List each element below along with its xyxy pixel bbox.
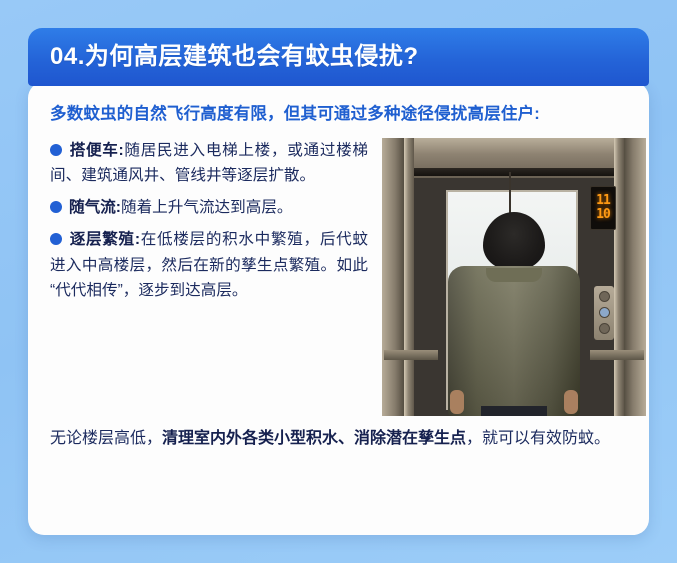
person-collar bbox=[486, 268, 542, 282]
header-bar: 04.为何高层建筑也会有蚊虫侵扰? bbox=[28, 28, 649, 86]
bullet-label: 逐层繁殖: bbox=[69, 231, 140, 248]
content-card: 多数蚊虫的自然飞行高度有限，但其可通过多种途径侵扰高层住户: 搭便车:随居民进入… bbox=[28, 82, 649, 535]
handrail-right bbox=[590, 350, 644, 360]
bullet-dot-icon bbox=[50, 144, 62, 156]
list-item: 搭便车:随居民进入电梯上楼，或通过楼梯间、建筑通风井、管线井等逐层扩散。 bbox=[50, 138, 368, 189]
footer-lead: 无论楼层高低， bbox=[50, 430, 162, 447]
intro-text: 多数蚊虫的自然飞行高度有限，但其可通过多种途径侵扰高层住户: bbox=[50, 102, 627, 128]
footer-emphasis: 清理室内外各类小型积水、消除潜在孳生点 bbox=[162, 430, 466, 447]
bullet-dot-icon bbox=[50, 201, 62, 213]
list-item: 逐层繁殖:在低楼层的积水中繁殖，后代蚊进入中高楼层，然后在新的孳生点繁殖。如此“… bbox=[50, 227, 368, 303]
person-hand-right bbox=[564, 390, 578, 414]
elevator-photo: 11 10 bbox=[382, 138, 646, 416]
list-item: 随气流:随着上升气流达到高层。 bbox=[50, 195, 368, 220]
bullet-text: 随着上升气流达到高层。 bbox=[121, 199, 293, 216]
handrail-left bbox=[384, 350, 438, 360]
person-hair bbox=[483, 212, 545, 270]
footer-note: 无论楼层高低，清理室内外各类小型积水、消除潜在孳生点，就可以有效防蚊。 bbox=[50, 426, 627, 452]
person-figure bbox=[382, 138, 646, 416]
person-jacket bbox=[448, 266, 580, 416]
bullet-list: 搭便车:随居民进入电梯上楼，或通过楼梯间、建筑通风井、管线井等逐层扩散。 随气流… bbox=[50, 138, 368, 311]
person-legs bbox=[481, 406, 547, 416]
poster-root: 04.为何高层建筑也会有蚊虫侵扰? 多数蚊虫的自然飞行高度有限，但其可通过多种途… bbox=[0, 0, 677, 563]
body-row: 搭便车:随居民进入电梯上楼，或通过楼梯间、建筑通风井、管线井等逐层扩散。 随气流… bbox=[50, 138, 627, 416]
bullet-label: 随气流: bbox=[69, 199, 121, 216]
footer-tail: ，就可以有效防蚊。 bbox=[466, 430, 610, 447]
person-hand-left bbox=[450, 390, 464, 414]
bullet-dot-icon bbox=[50, 233, 62, 245]
bullet-label: 搭便车: bbox=[69, 142, 124, 159]
page-title: 04.为何高层建筑也会有蚊虫侵扰? bbox=[28, 45, 419, 69]
